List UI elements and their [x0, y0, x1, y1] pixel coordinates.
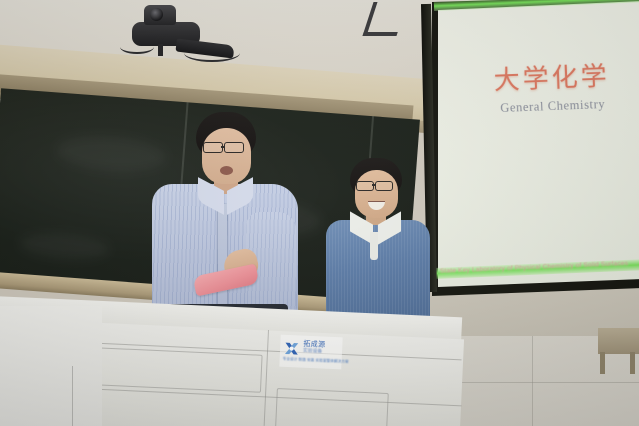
side-cabinet: [0, 306, 102, 426]
brand-name-cn-sub: 实验设备: [303, 348, 322, 355]
stool-leg: [600, 352, 605, 374]
screen-surface: [424, 0, 639, 296]
camera-mount-stalk: [158, 44, 163, 56]
glasses-bridge: [372, 184, 376, 186]
glasses-bridge: [221, 146, 225, 148]
brand-mark-icon: [283, 340, 301, 358]
wooden-stool: [598, 328, 639, 354]
glasses-icon: [375, 181, 393, 191]
speaker-left-mouth: [220, 166, 233, 175]
stool-leg: [630, 352, 635, 374]
lecture-hall-photo: 大学化学 General Chemistry State Key Laborat…: [0, 0, 639, 426]
glasses-icon: [203, 142, 223, 153]
polo-placket: [370, 232, 378, 260]
speaker-left-face: [202, 128, 251, 184]
camera-cable: [120, 40, 154, 54]
floor-tile-line: [532, 336, 533, 426]
speaker-right: [322, 158, 434, 323]
cabinet-seam: [72, 366, 73, 426]
camera-lens-icon: [150, 8, 163, 21]
glasses-icon: [356, 181, 374, 191]
projection-screen: 大学化学 General Chemistry State Key Laborat…: [424, 0, 639, 296]
podium-logo-decal: 拓成源 实验设备 专业设计 制造 安装 实验室整体解决方案: [279, 335, 342, 370]
camera-cable: [184, 44, 240, 62]
slide-title-block: 大学化学 General Chemistry: [471, 55, 633, 117]
podium-panel: [275, 388, 389, 426]
slide-title-chinese: 大学化学: [471, 55, 632, 98]
speaker-left: [150, 112, 300, 327]
speaker-right-face: [355, 170, 398, 218]
glasses-icon: [224, 142, 244, 153]
brand-tagline: 专业设计 制造 安装 实验室整体解决方案: [283, 357, 349, 365]
